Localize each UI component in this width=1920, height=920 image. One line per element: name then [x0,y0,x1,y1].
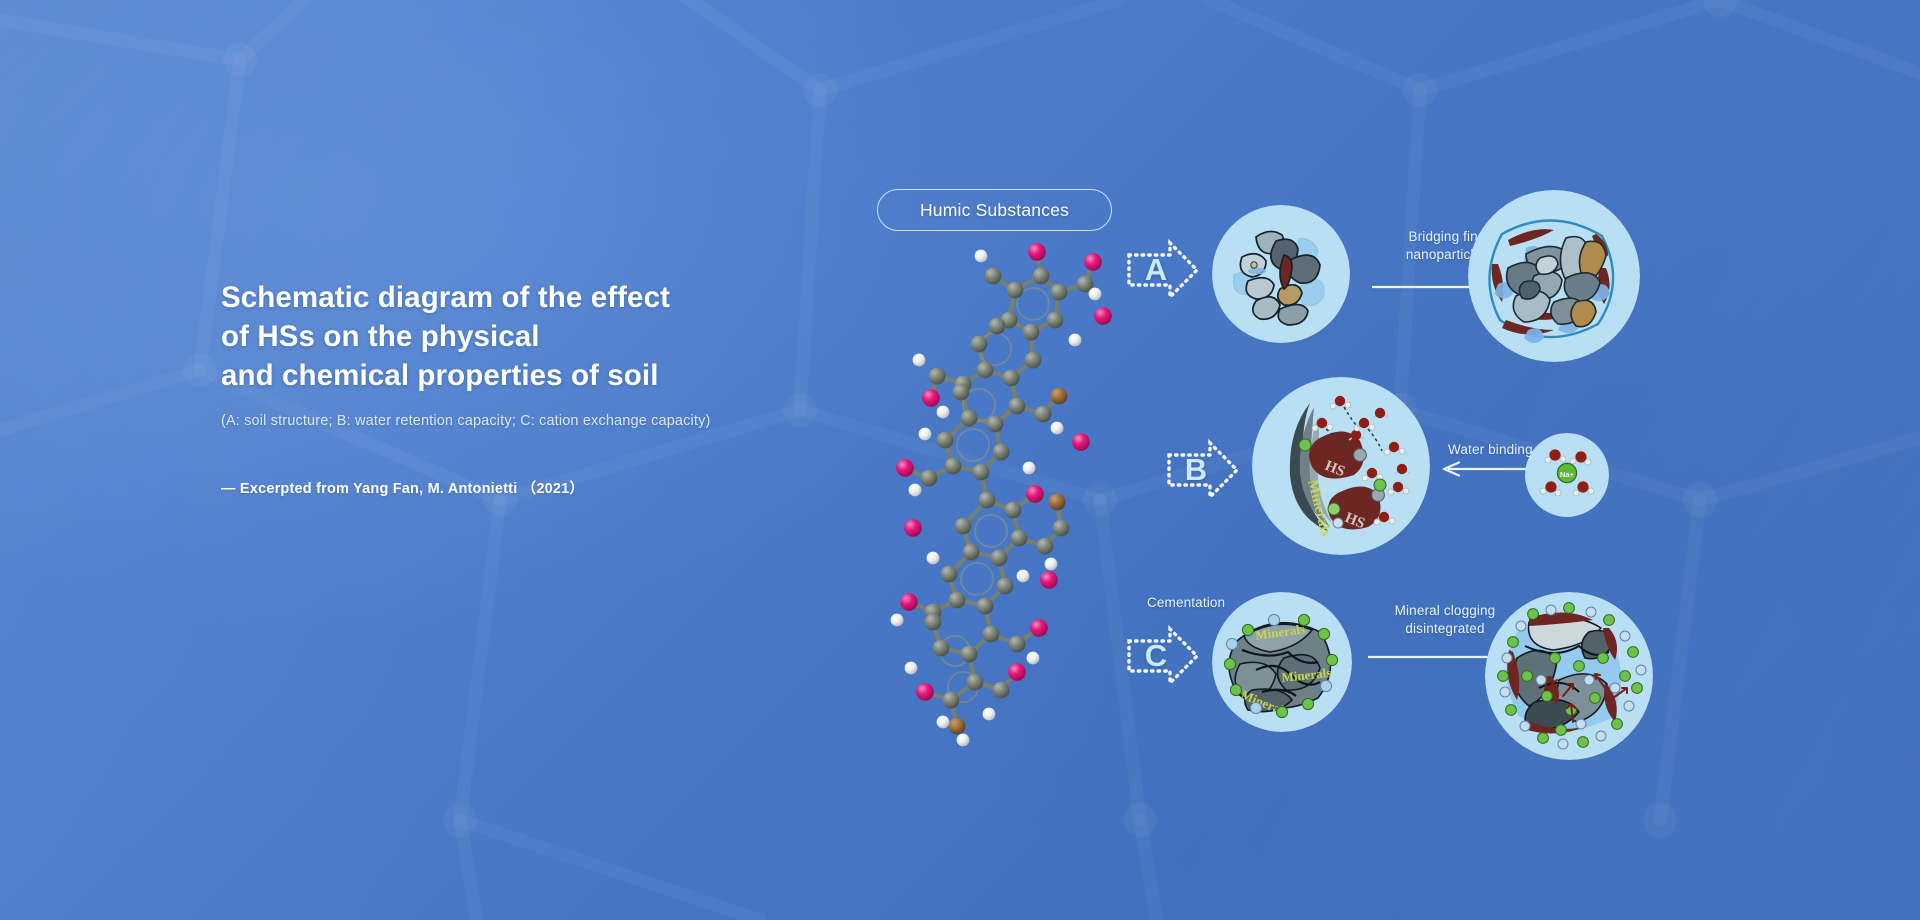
step-arrow-b: B [1166,439,1240,501]
step-arrow-c: C [1126,625,1200,687]
panel-hs-coated-mineral-with-water: Minerals HS HS [1252,377,1430,555]
flow-caption-b-line1: Water binding [1448,442,1533,457]
panel-dispersed-minerals-with-cations [1485,592,1653,760]
step-letter-a: A [1130,239,1182,301]
pre-label-c-text: Cementation [1147,595,1225,610]
hydrated-cation-label: Na+ [1560,470,1575,479]
step-arrow-a: A [1126,239,1200,301]
flow-caption-c-line1: Mineral clogging [1360,602,1530,620]
humic-substances-label-text: Humic Substances [920,200,1069,221]
panel-cemented-mineral-cluster: Minerals Minerals Minerals [1212,592,1352,732]
panel-hydrated-cation: Na+ [1525,433,1609,517]
pre-label-c-cementation: Cementation [1147,595,1225,610]
step-letter-b: B [1170,439,1222,501]
humic-substance-molecule-icon [845,228,1155,748]
panel-bridged-soil-aggregate [1468,190,1640,362]
flow-caption-b: Water binding [1448,442,1533,457]
step-letter-c: C [1130,625,1182,687]
panel-loose-mineral-fragments [1212,205,1350,343]
humic-substances-label: Humic Substances [877,189,1112,231]
schematic-diagram: Humic Substances [0,0,1920,920]
